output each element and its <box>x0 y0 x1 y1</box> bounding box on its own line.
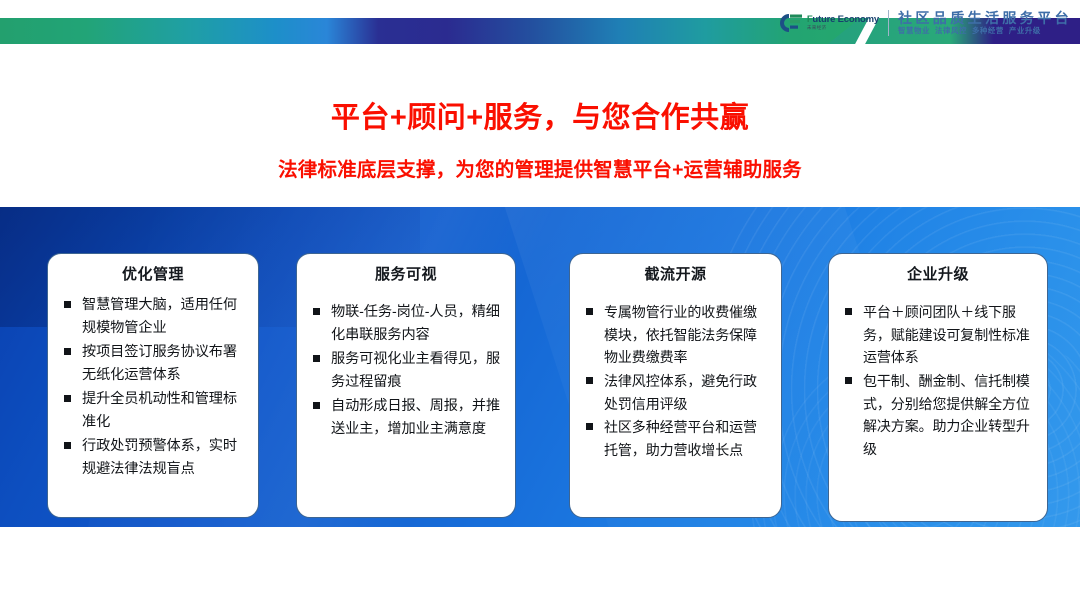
header-brand: Future Economy 未来经济 社区品质生活服务平台 智慧物业法律风控多… <box>778 2 1072 44</box>
future-economy-logo-icon <box>778 12 804 34</box>
card-bullet-list: 智慧管理大脑，适用任何规模物管企业 按项目签订服务协议布署无纸化运营体系 提升全… <box>62 294 244 481</box>
page-title: 平台+顾问+服务，与您合作共赢 <box>0 103 1080 135</box>
card-title: 优化管理 <box>62 266 244 284</box>
brand-logo-cn: 未来经济 <box>807 26 879 31</box>
brand-logo-en-rest: Economy <box>835 14 879 25</box>
brand-logo-en-main: uture <box>812 14 835 25</box>
list-item: 平台＋顾问团队＋线下服务，赋能建设可复制性标准运营体系 <box>843 301 1033 369</box>
brand-subtitle-item: 智慧物业 <box>898 26 930 35</box>
list-item: 智慧管理大脑，适用任何规模物管企业 <box>62 294 244 340</box>
list-item: 专属物管行业的收费催缴模块，依托智能法务保障物业费缴费率 <box>584 301 767 369</box>
brand-subtitle-item: 多种经营 <box>972 26 1004 35</box>
list-item: 物联-任务-岗位-人员，精细化串联服务内容 <box>311 301 501 347</box>
list-item: 行政处罚预警体系，实时规避法律法规盲点 <box>62 435 244 481</box>
brand-logo-text: Future Economy 未来经济 <box>807 15 879 30</box>
brand-subtitle-item: 产业升级 <box>1009 26 1041 35</box>
brand-title: 社区品质生活服务平台 <box>898 11 1072 25</box>
list-item: 按项目签订服务协议布署无纸化运营体系 <box>62 341 244 387</box>
page-subtitle: 法律标准底层支撑，为您的管理提供智慧平台+运营辅助服务 <box>0 160 1080 181</box>
brand-logo-en: Future Economy <box>807 15 879 25</box>
brand-logo: Future Economy 未来经济 <box>778 12 879 34</box>
card-bullet-list: 物联-任务-岗位-人员，精细化串联服务内容 服务可视化业主看得见，服务过程留痕 … <box>311 301 501 441</box>
brand-words: 社区品质生活服务平台 智慧物业法律风控多种经营产业升级 <box>898 11 1072 34</box>
brand-subtitle: 智慧物业法律风控多种经营产业升级 <box>898 27 1072 34</box>
list-item: 提升全员机动性和管理标准化 <box>62 388 244 434</box>
feature-card-optimize-management[interactable]: 优化管理 智慧管理大脑，适用任何规模物管企业 按项目签订服务协议布署无纸化运营体… <box>47 253 259 518</box>
feature-card-revenue-growth[interactable]: 截流开源 专属物管行业的收费催缴模块，依托智能法务保障物业费缴费率 法律风控体系… <box>569 253 782 518</box>
card-title: 服务可视 <box>311 266 501 284</box>
list-item: 包干制、酬金制、信托制模式，分别给您提供解全方位解决方案。助力企业转型升级 <box>843 370 1033 461</box>
card-bullet-list: 平台＋顾问团队＋线下服务，赋能建设可复制性标准运营体系 包干制、酬金制、信托制模… <box>843 301 1033 461</box>
list-item: 自动形成日报、周报，并推送业主，增加业主满意度 <box>311 395 501 441</box>
top-bar-gradient-band <box>0 18 860 44</box>
card-title: 截流开源 <box>584 266 767 284</box>
list-item: 服务可视化业主看得见，服务过程留痕 <box>311 348 501 394</box>
list-item: 社区多种经营平台和运营托管，助力营收增长点 <box>584 416 767 461</box>
card-title: 企业升级 <box>843 266 1033 284</box>
feature-cards: 优化管理 智慧管理大脑，适用任何规模物管企业 按项目签订服务协议布署无纸化运营体… <box>0 253 1080 523</box>
brand-divider <box>888 10 889 36</box>
card-bullet-list: 专属物管行业的收费催缴模块，依托智能法务保障物业费缴费率 法律风控体系，避免行政… <box>584 301 767 462</box>
feature-card-service-visible[interactable]: 服务可视 物联-任务-岗位-人员，精细化串联服务内容 服务可视化业主看得见，服务… <box>296 253 516 518</box>
feature-card-enterprise-upgrade[interactable]: 企业升级 平台＋顾问团队＋线下服务，赋能建设可复制性标准运营体系 包干制、酬金制… <box>828 253 1048 522</box>
brand-subtitle-item: 法律风控 <box>935 26 967 35</box>
list-item: 法律风控体系，避免行政处罚信用评级 <box>584 370 767 415</box>
